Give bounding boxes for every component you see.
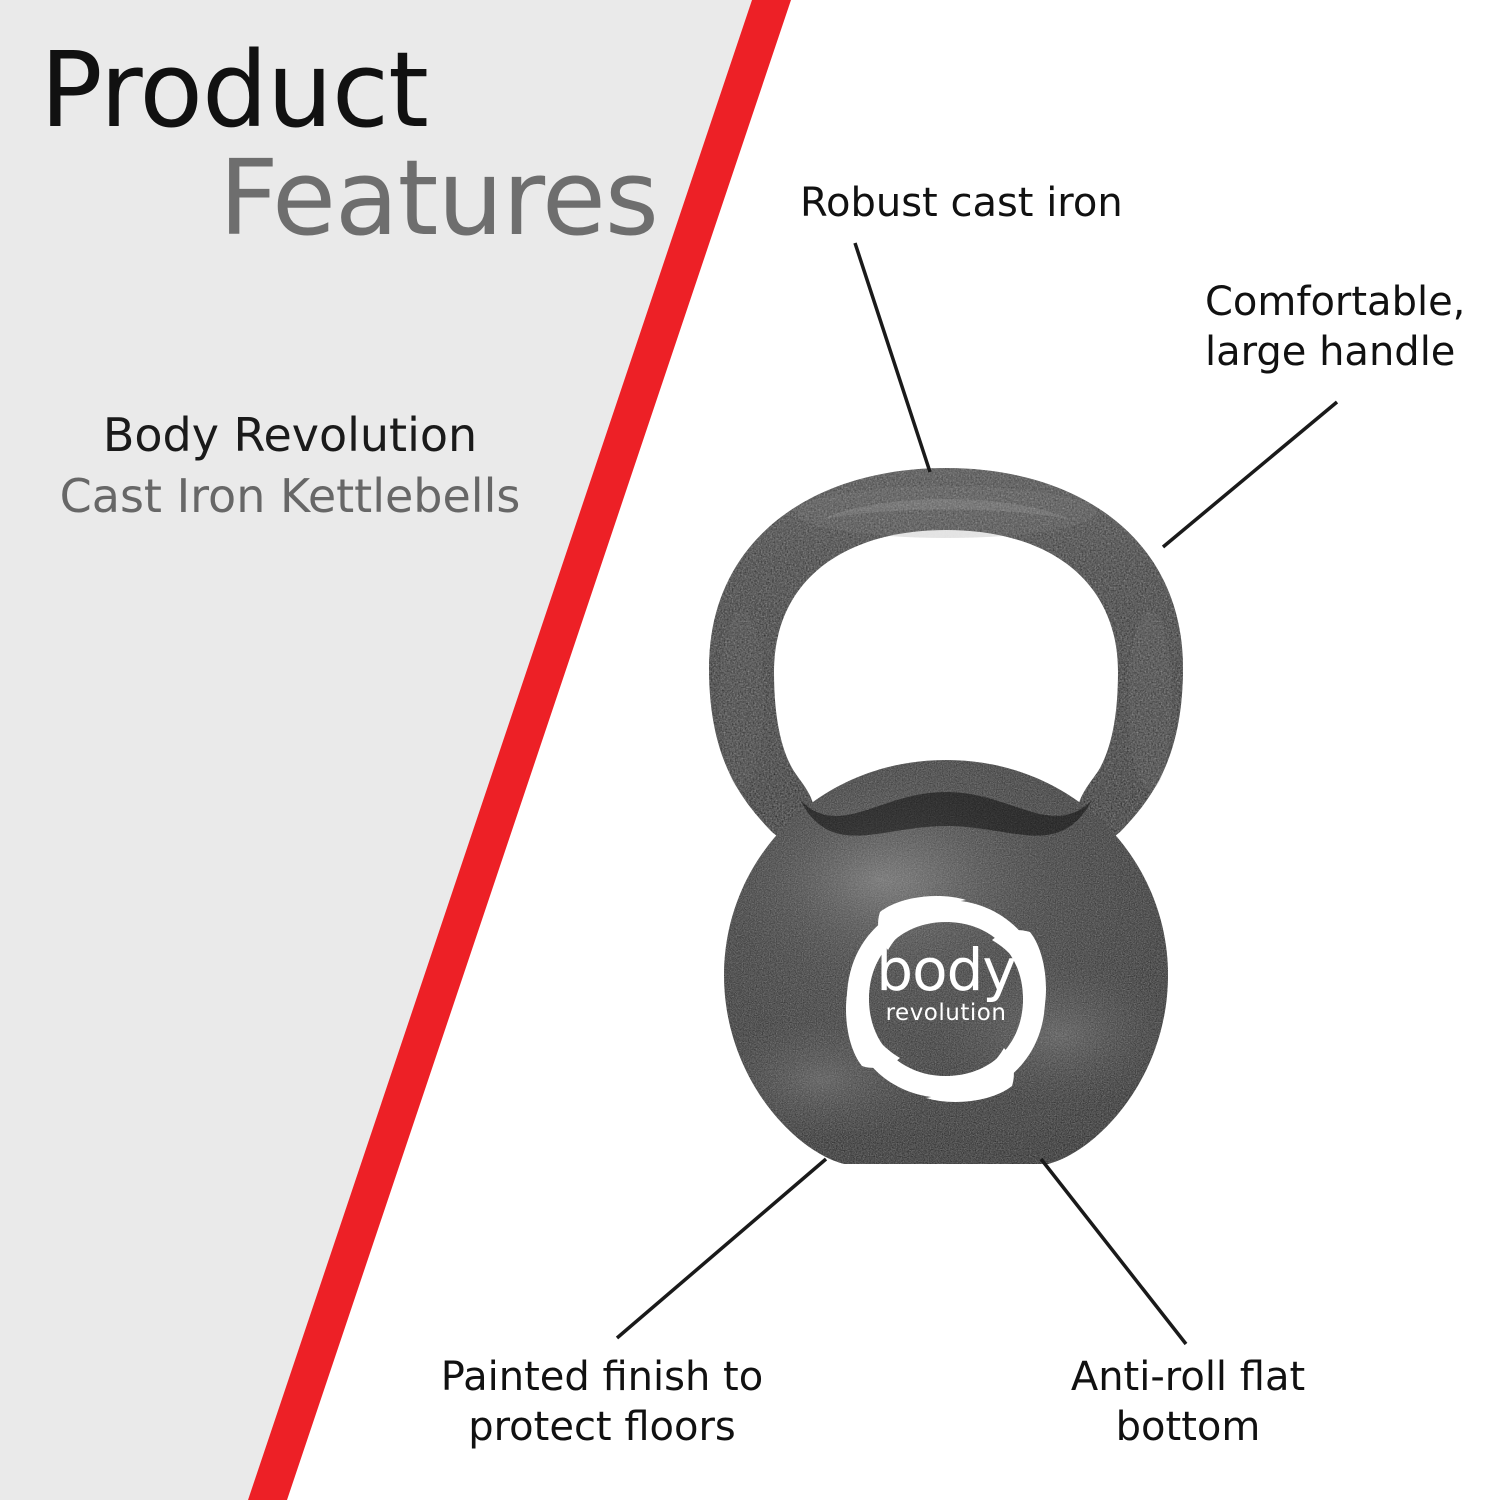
leader-line-robust-cast-iron <box>855 243 930 472</box>
leader-line-anti-roll <box>1041 1159 1186 1344</box>
leader-line-painted-finish <box>617 1159 826 1338</box>
callout-leader-lines <box>0 0 1500 1500</box>
leader-line-comfortable-handle <box>1163 402 1337 547</box>
product-features-poster: Product Features Body Revolution Cast Ir… <box>0 0 1500 1500</box>
